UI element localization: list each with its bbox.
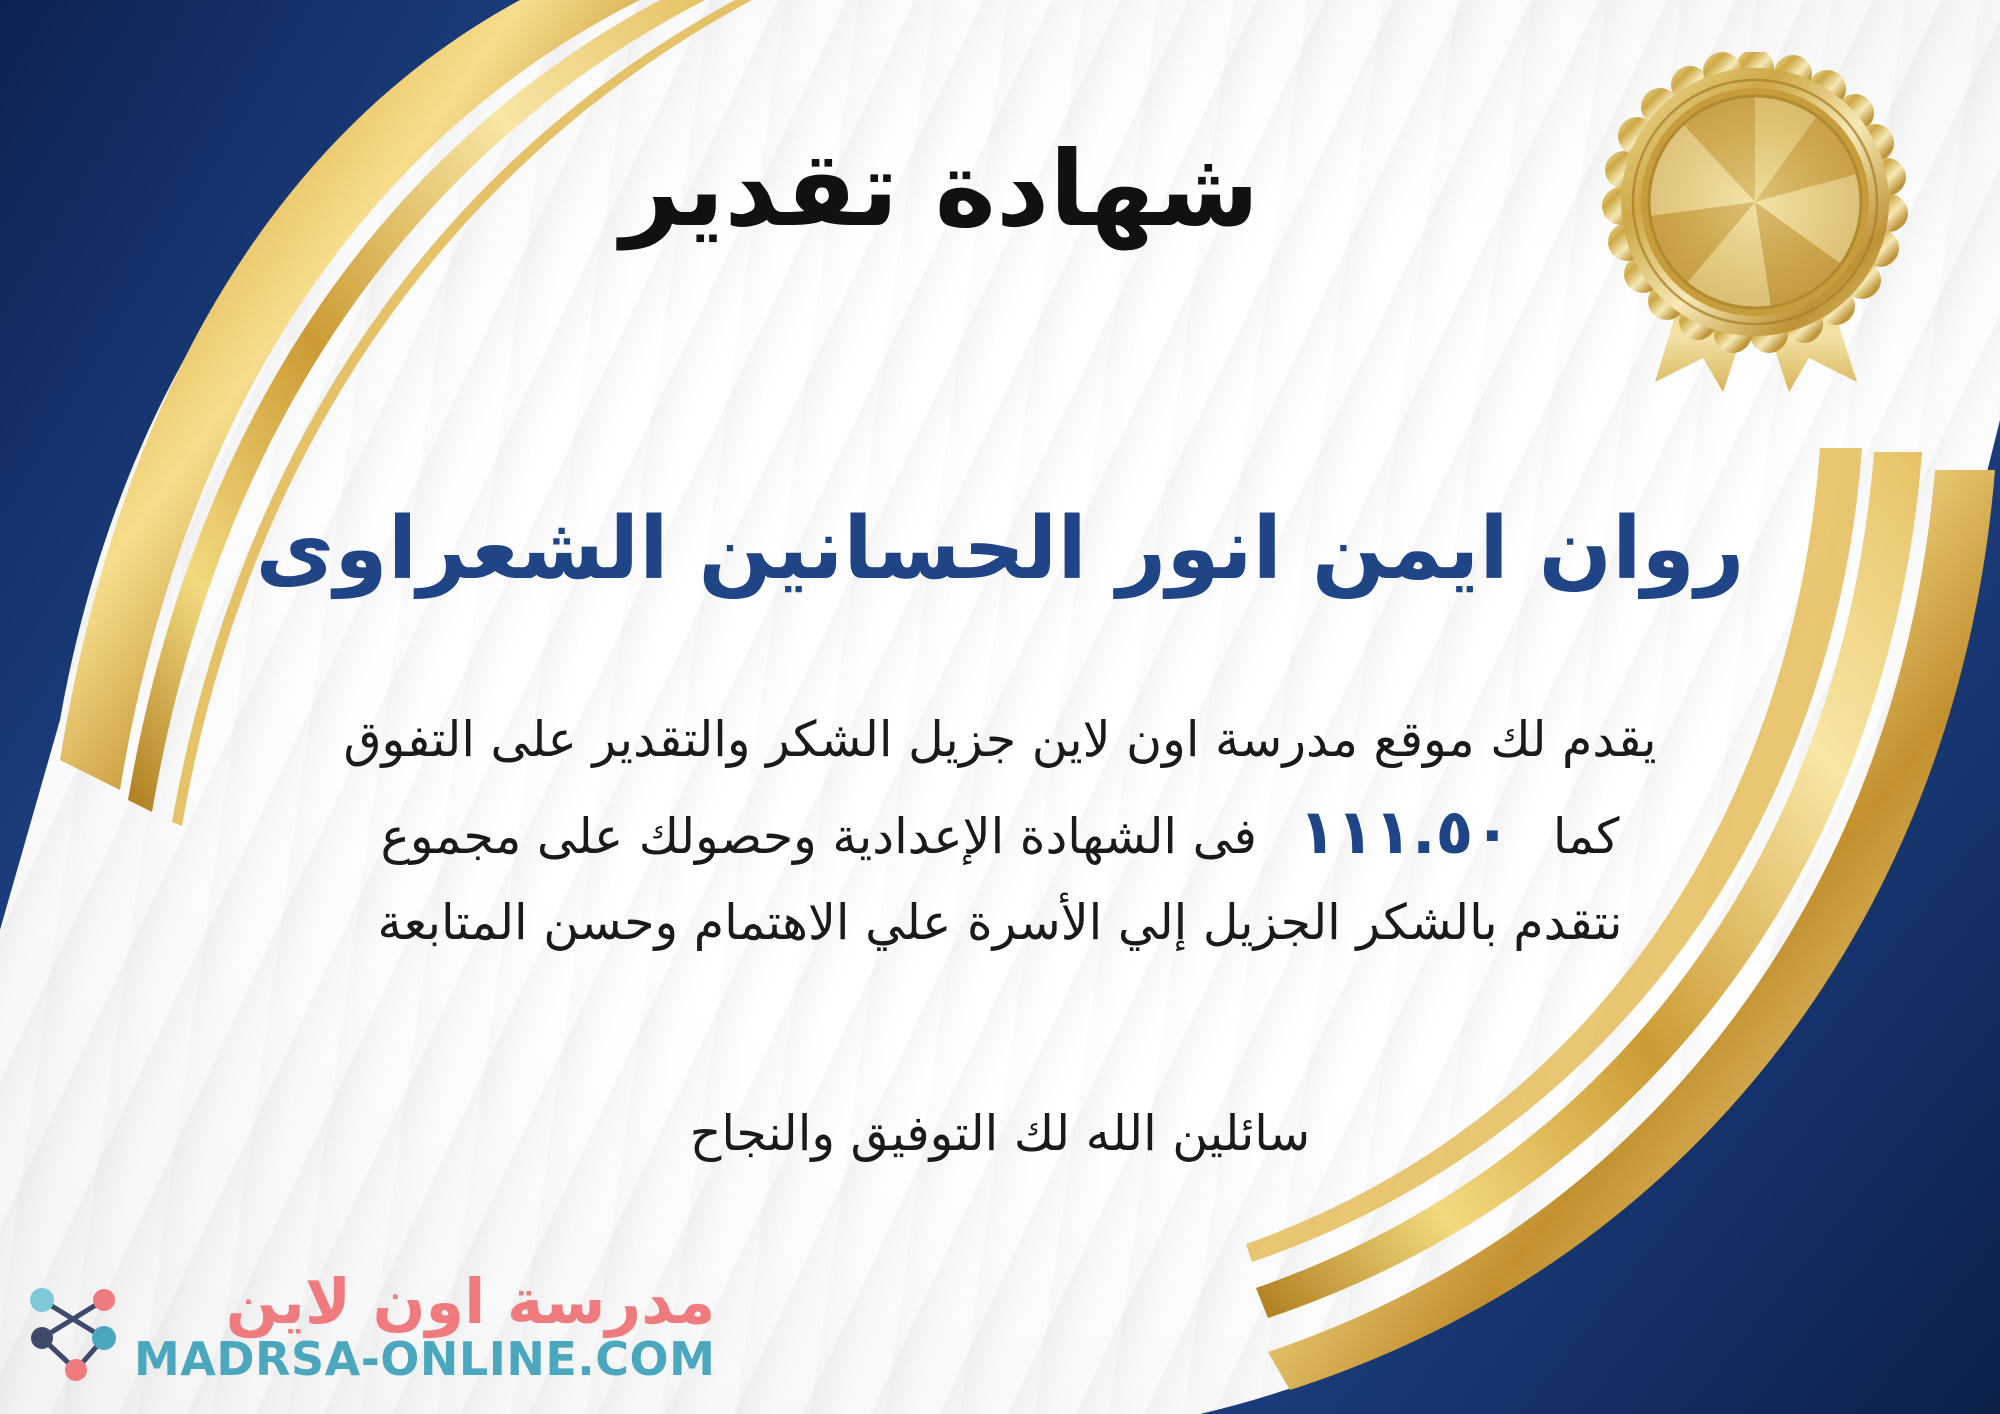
body-line-2-suffix: كما: [1553, 808, 1620, 865]
certificate-title: شهادة تقدير: [0, 132, 2000, 246]
body-line-3: نتقدم بالشكر الجزيل إلي الأسرة علي الاهت…: [40, 883, 1960, 964]
body-line-2: كما ١١١.٥٠ فى الشهادة الإعدادية وحصولك ع…: [40, 781, 1960, 883]
brand-logo[interactable]: مدرسة اون لاين MADRSA-ONLINE.COM: [18, 1271, 715, 1386]
logo-website: MADRSA-ONLINE.COM: [134, 1333, 715, 1386]
certificate-page: شهادة تقدير روان ايمن انور الحسانين الشع…: [0, 0, 2000, 1414]
recipient-name: روان ايمن انور الحسانين الشعراوى: [0, 500, 2000, 599]
network-nodes-icon: [18, 1274, 128, 1384]
grade-total-value: ١١١.٥٠: [1272, 795, 1537, 868]
certificate-body: يقدم لك موقع مدرسة اون لاين جزيل الشكر و…: [40, 700, 1960, 964]
body-line-2-prefix: فى الشهادة الإعدادية وحصولك على مجموع: [381, 808, 1257, 865]
logo-arabic-name: مدرسة اون لاين: [226, 1271, 716, 1333]
closing-wish: سائلين الله لك التوفيق والنجاح: [0, 1105, 2000, 1162]
body-line-1: يقدم لك موقع مدرسة اون لاين جزيل الشكر و…: [40, 700, 1960, 781]
